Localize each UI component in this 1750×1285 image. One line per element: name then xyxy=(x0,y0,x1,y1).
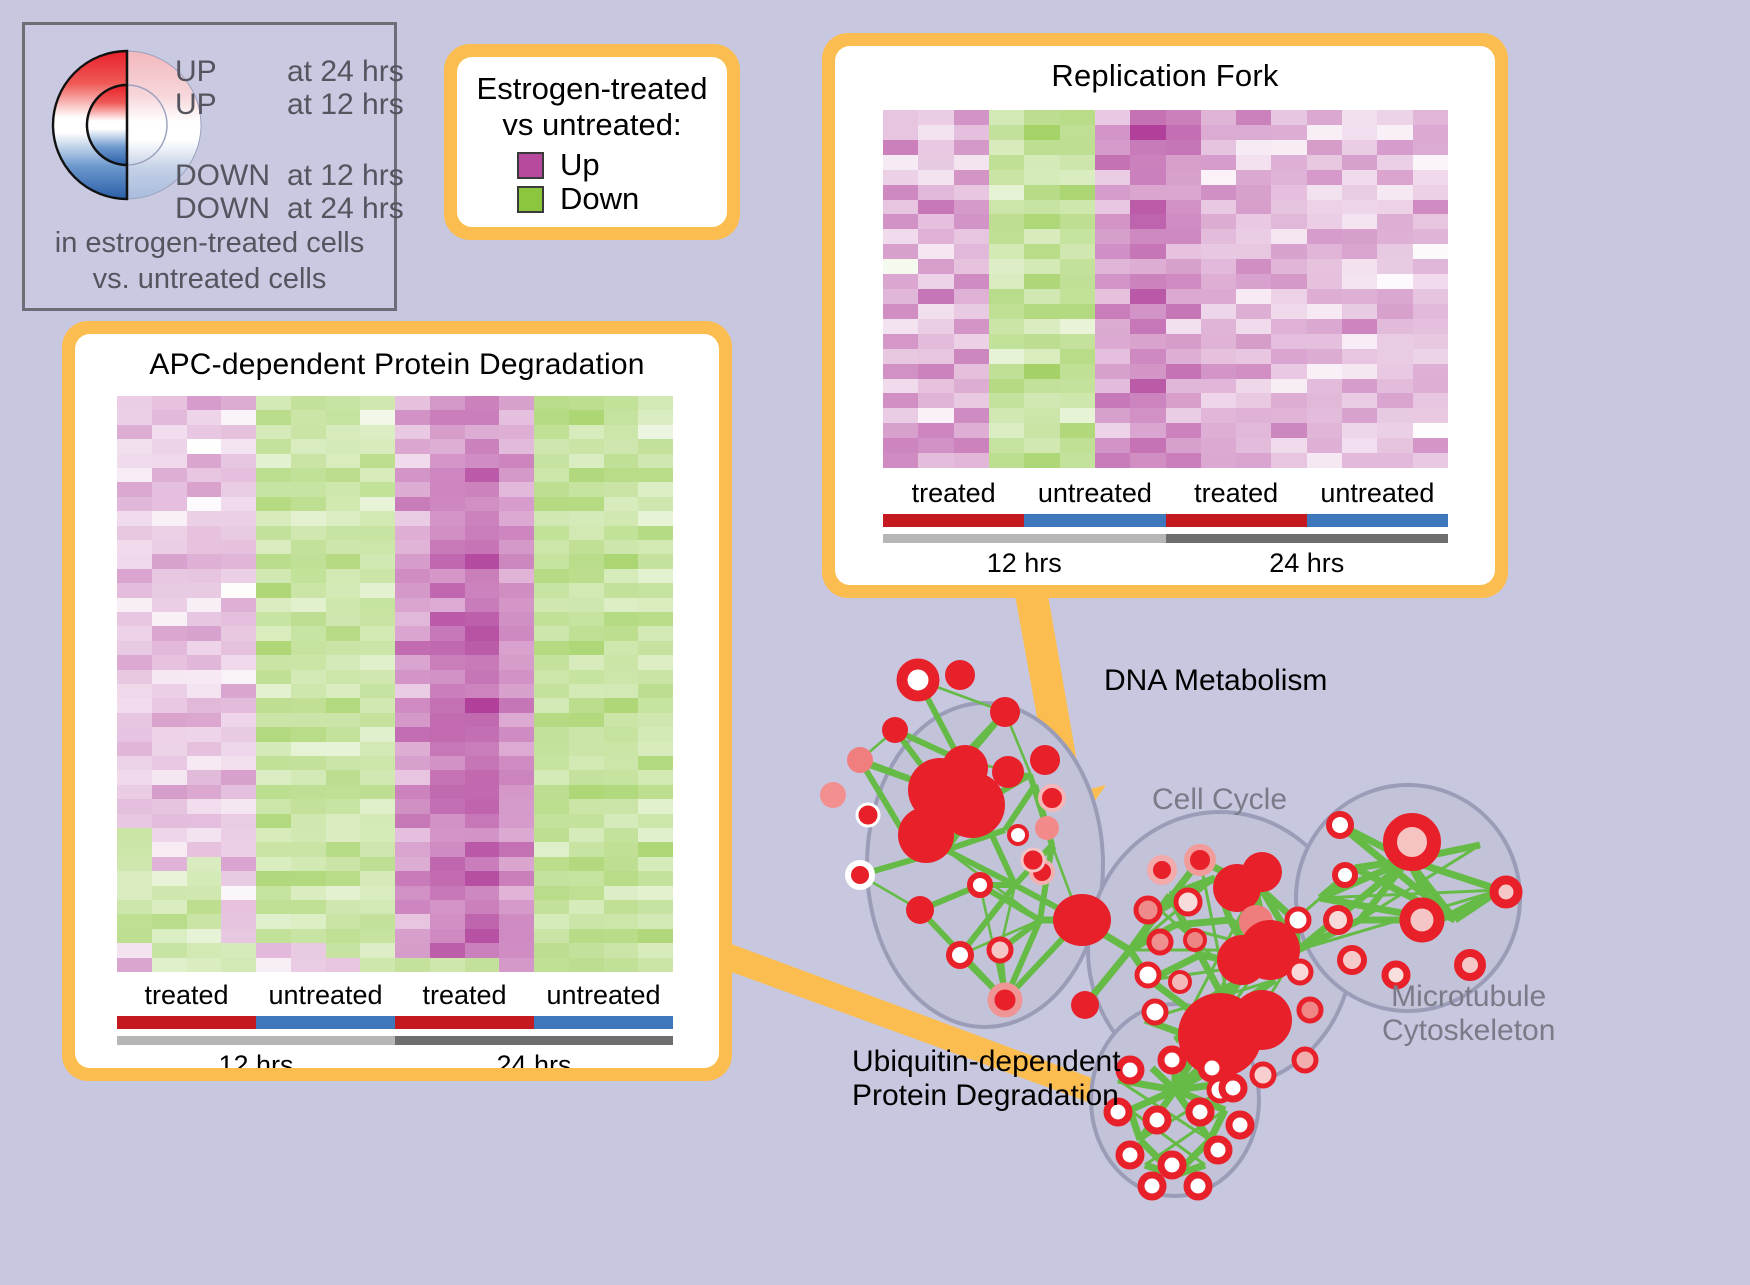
heatmap-cell xyxy=(430,670,465,684)
heatmap-cell xyxy=(1060,364,1095,379)
heatmap-cell xyxy=(430,612,465,626)
heatmap-cell xyxy=(1271,110,1306,125)
heatmap-cell xyxy=(638,727,673,741)
heatmap-cell xyxy=(465,598,500,612)
heatmap-cell xyxy=(1201,453,1236,468)
heatmap-cell xyxy=(883,304,918,319)
heatmap-cell xyxy=(152,511,187,525)
rf-bar-24hrs xyxy=(1166,534,1449,543)
heatmap-cell xyxy=(465,842,500,856)
heatmap-cell xyxy=(1024,229,1059,244)
heatmap-cell xyxy=(187,871,222,885)
heatmap-cell xyxy=(465,914,500,928)
heatmap-cell xyxy=(989,379,1024,394)
heatmap-cell xyxy=(1307,423,1342,438)
heatmap-cell xyxy=(221,497,256,511)
heatmap-cell xyxy=(989,155,1024,170)
heatmap-cell xyxy=(918,319,953,334)
heatmap-cell xyxy=(1413,379,1448,394)
heatmap-cell xyxy=(221,914,256,928)
heatmap-cell xyxy=(604,511,639,525)
heatmap-cell xyxy=(1024,170,1059,185)
heatmap-cell xyxy=(117,526,152,540)
heatmap-cell xyxy=(395,396,430,410)
heatmap-cell xyxy=(1201,110,1236,125)
heatmap-cell xyxy=(152,396,187,410)
heatmap-cell xyxy=(954,319,989,334)
heatmap-cell xyxy=(954,259,989,274)
heatmap-cell xyxy=(1166,379,1201,394)
heatmap-cell xyxy=(117,914,152,928)
heatmap-cell xyxy=(221,482,256,496)
heatmap-cell xyxy=(152,569,187,583)
heatmap-cell xyxy=(883,229,918,244)
rf-bar-12hrs xyxy=(883,534,1166,543)
heatmap-cell xyxy=(326,655,361,669)
heatmap-cell xyxy=(465,770,500,784)
heatmap-cell xyxy=(1413,274,1448,289)
heatmap-cell xyxy=(918,185,953,200)
heatmap-cell xyxy=(1024,140,1059,155)
heatmap-cell xyxy=(117,626,152,640)
heatmap-cell xyxy=(1271,379,1306,394)
heatmap-cell xyxy=(326,454,361,468)
heatmap-cell xyxy=(1342,274,1377,289)
heatmap-cell xyxy=(430,857,465,871)
heatmap-cell xyxy=(360,713,395,727)
heatmap-cell xyxy=(638,857,673,871)
heatmap-cell xyxy=(638,641,673,655)
ring-key: UP xyxy=(175,88,287,121)
heatmap-cell xyxy=(1413,110,1448,125)
heatmap-cell xyxy=(326,425,361,439)
heatmap-cell xyxy=(430,958,465,972)
heatmap-cell xyxy=(187,770,222,784)
heatmap-cell xyxy=(152,439,187,453)
heatmap-cell xyxy=(326,626,361,640)
heatmap-cell xyxy=(638,670,673,684)
heatmap-cell xyxy=(604,598,639,612)
heatmap-cell xyxy=(291,871,326,885)
heatmap-cell xyxy=(326,482,361,496)
heatmap-cell xyxy=(499,425,534,439)
heatmap-cell xyxy=(256,612,291,626)
heatmap-cell xyxy=(604,727,639,741)
heatmap-cell xyxy=(152,626,187,640)
heatmap-cell xyxy=(326,569,361,583)
heatmap-cell xyxy=(918,289,953,304)
heatmap-cell xyxy=(256,914,291,928)
heatmap-cell xyxy=(1060,334,1095,349)
heatmap-cell xyxy=(1236,379,1271,394)
heatmap-cell xyxy=(465,900,500,914)
heatmap-cell xyxy=(187,511,222,525)
heatmap-cell xyxy=(1201,304,1236,319)
apc-group-label: treated xyxy=(117,980,256,1011)
heatmap-cell xyxy=(465,799,500,813)
heatmap-cell xyxy=(604,468,639,482)
heatmap-cell xyxy=(187,583,222,597)
heatmap-cell xyxy=(989,125,1024,140)
heatmap-cell xyxy=(883,125,918,140)
heatmap-cell xyxy=(1236,393,1271,408)
heatmap-cell xyxy=(117,785,152,799)
heatmap-cell xyxy=(918,453,953,468)
heatmap-cell xyxy=(395,871,430,885)
heatmap-cell xyxy=(638,626,673,640)
heatmap-cell xyxy=(187,886,222,900)
heatmap-cell xyxy=(1236,319,1271,334)
heatmap-cell xyxy=(1060,200,1095,215)
heatmap-cell xyxy=(291,814,326,828)
heatmap-cell xyxy=(534,713,569,727)
heatmap-cell xyxy=(117,857,152,871)
heatmap-cell xyxy=(1342,334,1377,349)
replication-fork-title: Replication Fork xyxy=(835,58,1495,94)
heatmap-cell xyxy=(569,612,604,626)
heatmap-cell xyxy=(187,425,222,439)
heatmap-cell xyxy=(360,655,395,669)
heatmap-cell xyxy=(1130,393,1165,408)
heatmap-cell xyxy=(1342,289,1377,304)
heatmap-cell xyxy=(954,438,989,453)
heatmap-cell xyxy=(989,408,1024,423)
rf-treatment-bar xyxy=(883,514,1448,527)
heatmap-cell xyxy=(395,497,430,511)
heatmap-cell xyxy=(1060,423,1095,438)
heatmap-cell xyxy=(187,569,222,583)
heatmap-cell xyxy=(187,482,222,496)
heatmap-cell xyxy=(1377,408,1412,423)
heatmap-cell xyxy=(291,842,326,856)
heatmap-cell xyxy=(1024,393,1059,408)
heatmap-cell xyxy=(1307,140,1342,155)
heatmap-cell xyxy=(291,468,326,482)
up-color-swatch xyxy=(517,152,544,179)
heatmap-cell xyxy=(918,349,953,364)
heatmap-cell xyxy=(256,583,291,597)
heatmap-cell xyxy=(638,914,673,928)
heatmap-cell xyxy=(465,641,500,655)
heatmap-cell xyxy=(1342,423,1377,438)
heatmap-cell xyxy=(1024,438,1059,453)
heatmap-cell xyxy=(534,727,569,741)
heatmap-cell xyxy=(534,756,569,770)
heatmap-cell xyxy=(604,742,639,756)
heatmap-cell xyxy=(152,410,187,424)
heatmap-cell xyxy=(1130,140,1165,155)
heatmap-cell xyxy=(395,842,430,856)
heatmap-cell xyxy=(1377,438,1412,453)
heatmap-cell xyxy=(499,410,534,424)
heatmap-cell xyxy=(117,770,152,784)
heatmap-cell xyxy=(465,439,500,453)
heatmap-cell xyxy=(360,540,395,554)
heatmap-cell xyxy=(534,814,569,828)
heatmap-cell xyxy=(1413,214,1448,229)
heatmap-cell xyxy=(1024,110,1059,125)
heatmap-cell xyxy=(256,641,291,655)
heatmap-cell xyxy=(465,497,500,511)
heatmap-cell xyxy=(638,554,673,568)
heatmap-cell xyxy=(430,598,465,612)
heatmap-cell xyxy=(954,200,989,215)
heatmap-cell xyxy=(1236,259,1271,274)
heatmap-cell xyxy=(499,857,534,871)
heatmap-cell xyxy=(569,626,604,640)
heatmap-cell xyxy=(187,655,222,669)
heatmap-cell xyxy=(1166,200,1201,215)
heatmap-cell xyxy=(465,958,500,972)
ring-legend-labels: UP at 24 hrs UP at 12 hrs DOWN at 12 hrs… xyxy=(175,55,405,225)
heatmap-cell xyxy=(187,857,222,871)
heatmap-cell xyxy=(430,626,465,640)
heatmap-cell xyxy=(638,943,673,957)
heatmap-cell xyxy=(604,497,639,511)
apc-time-label-24: 24 hrs xyxy=(395,1050,673,1068)
heatmap-cell xyxy=(638,929,673,943)
heatmap-cell xyxy=(1236,289,1271,304)
heatmap-cell xyxy=(1413,423,1448,438)
heatmap-cell xyxy=(1060,349,1095,364)
heatmap-cell xyxy=(604,756,639,770)
heatmap-cell xyxy=(1024,259,1059,274)
heatmap-cell xyxy=(569,756,604,770)
heatmap-cell xyxy=(1201,214,1236,229)
heatmap-cell xyxy=(395,684,430,698)
heatmap-cell xyxy=(117,958,152,972)
heatmap-cell xyxy=(291,929,326,943)
heatmap-cell xyxy=(638,526,673,540)
heatmap-cell xyxy=(465,410,500,424)
apc-time-labels: 12 hrs 24 hrs xyxy=(117,1050,673,1068)
heatmap-cell xyxy=(1413,453,1448,468)
heatmap-cell xyxy=(221,929,256,943)
heatmap-cell xyxy=(1130,364,1165,379)
heatmap-cell xyxy=(1095,110,1130,125)
heatmap-cell xyxy=(1271,319,1306,334)
heatmap-cell xyxy=(1166,349,1201,364)
heatmap-cell xyxy=(499,756,534,770)
heatmap-cell xyxy=(187,828,222,842)
color-legend-panel: Estrogen-treated vs untreated: Up Down xyxy=(444,44,740,240)
heatmap-cell xyxy=(1307,334,1342,349)
heatmap-cell xyxy=(465,828,500,842)
heatmap-cell xyxy=(499,929,534,943)
heatmap-cell xyxy=(604,900,639,914)
heatmap-cell xyxy=(604,828,639,842)
heatmap-cell xyxy=(152,871,187,885)
heatmap-cell xyxy=(1024,185,1059,200)
heatmap-cell xyxy=(360,914,395,928)
heatmap-cell xyxy=(256,857,291,871)
heatmap-cell xyxy=(291,770,326,784)
heatmap-cell xyxy=(604,814,639,828)
heatmap-cell xyxy=(395,958,430,972)
heatmap-cell xyxy=(221,871,256,885)
heatmap-cell xyxy=(569,641,604,655)
heatmap-cell xyxy=(954,379,989,394)
heatmap-cell xyxy=(152,742,187,756)
heatmap-cell xyxy=(534,670,569,684)
heatmap-cell xyxy=(256,770,291,784)
heatmap-cell xyxy=(187,612,222,626)
heatmap-cell xyxy=(256,482,291,496)
heatmap-cell xyxy=(395,828,430,842)
heatmap-cell xyxy=(152,857,187,871)
heatmap-cell xyxy=(1236,229,1271,244)
heatmap-cell xyxy=(291,713,326,727)
heatmap-cell xyxy=(1130,453,1165,468)
heatmap-cell xyxy=(291,886,326,900)
legend-item-up: Up xyxy=(517,149,711,181)
heatmap-cell xyxy=(918,155,953,170)
heatmap-cell xyxy=(291,569,326,583)
heatmap-cell xyxy=(326,886,361,900)
heatmap-cell xyxy=(256,497,291,511)
heatmap-cell xyxy=(1166,155,1201,170)
heatmap-cell xyxy=(326,799,361,813)
heatmap-cell xyxy=(1166,438,1201,453)
heatmap-cell xyxy=(430,497,465,511)
heatmap-cell xyxy=(1201,423,1236,438)
heatmap-cell xyxy=(221,785,256,799)
heatmap-cell xyxy=(187,454,222,468)
heatmap-cell xyxy=(604,670,639,684)
heatmap-cell xyxy=(569,396,604,410)
heatmap-cell xyxy=(117,684,152,698)
heatmap-cell xyxy=(1342,214,1377,229)
heatmap-cell xyxy=(1413,140,1448,155)
heatmap-cell xyxy=(395,857,430,871)
heatmap-cell xyxy=(291,396,326,410)
heatmap-cell xyxy=(499,799,534,813)
heatmap-cell xyxy=(395,598,430,612)
heatmap-cell xyxy=(1413,289,1448,304)
heatmap-cell xyxy=(291,526,326,540)
heatmap-cell xyxy=(117,698,152,712)
heatmap-cell xyxy=(1024,379,1059,394)
heatmap-cell xyxy=(326,770,361,784)
heatmap-cell xyxy=(187,626,222,640)
heatmap-cell xyxy=(117,814,152,828)
heatmap-cell xyxy=(569,482,604,496)
heatmap-cell xyxy=(291,540,326,554)
heatmap-cell xyxy=(883,110,918,125)
heatmap-cell xyxy=(534,511,569,525)
heatmap-cell xyxy=(360,799,395,813)
heatmap-cell xyxy=(117,396,152,410)
heatmap-cell xyxy=(395,583,430,597)
heatmap-cell xyxy=(187,785,222,799)
heatmap-cell xyxy=(360,641,395,655)
heatmap-cell xyxy=(1095,140,1130,155)
heatmap-cell xyxy=(604,943,639,957)
heatmap-cell xyxy=(221,770,256,784)
heatmap-cell xyxy=(1130,319,1165,334)
heatmap-cell xyxy=(430,583,465,597)
heatmap-cell xyxy=(1342,155,1377,170)
heatmap-cell xyxy=(465,785,500,799)
heatmap-cell xyxy=(221,410,256,424)
heatmap-cell xyxy=(989,393,1024,408)
heatmap-cell xyxy=(604,785,639,799)
heatmap-cell xyxy=(1271,140,1306,155)
heatmap-cell xyxy=(360,828,395,842)
heatmap-cell xyxy=(187,468,222,482)
heatmap-cell xyxy=(1095,438,1130,453)
heatmap-cell xyxy=(1166,244,1201,259)
rf-group-label: untreated xyxy=(1307,478,1448,509)
heatmap-cell xyxy=(1095,259,1130,274)
heatmap-cell xyxy=(117,943,152,957)
heatmap-cell xyxy=(883,274,918,289)
heatmap-cell xyxy=(430,914,465,928)
heatmap-cell xyxy=(395,626,430,640)
heatmap-cell xyxy=(152,641,187,655)
heatmap-cell xyxy=(1130,379,1165,394)
heatmap-cell xyxy=(465,425,500,439)
heatmap-cell xyxy=(360,454,395,468)
heatmap-cell xyxy=(989,423,1024,438)
heatmap-cell xyxy=(499,454,534,468)
heatmap-cell xyxy=(360,526,395,540)
apc-time-label-12: 12 hrs xyxy=(117,1050,395,1068)
heatmap-cell xyxy=(465,526,500,540)
heatmap-cell xyxy=(221,554,256,568)
heatmap-cell xyxy=(152,655,187,669)
heatmap-cell xyxy=(152,900,187,914)
heatmap-cell xyxy=(221,655,256,669)
heatmap-cell xyxy=(1166,259,1201,274)
heatmap-cell xyxy=(638,756,673,770)
heatmap-cell xyxy=(326,612,361,626)
heatmap-cell xyxy=(1060,408,1095,423)
heatmap-cell xyxy=(1024,244,1059,259)
heatmap-cell xyxy=(1342,170,1377,185)
heatmap-cell xyxy=(395,468,430,482)
heatmap-cell xyxy=(221,454,256,468)
heatmap-cell xyxy=(1130,259,1165,274)
heatmap-cell xyxy=(221,713,256,727)
heatmap-cell xyxy=(291,598,326,612)
heatmap-cell xyxy=(1201,185,1236,200)
heatmap-cell xyxy=(1307,170,1342,185)
heatmap-cell xyxy=(883,349,918,364)
heatmap-cell xyxy=(918,125,953,140)
heatmap-cell xyxy=(1060,453,1095,468)
heatmap-cell xyxy=(1201,319,1236,334)
heatmap-cell xyxy=(152,468,187,482)
heatmap-cell xyxy=(499,871,534,885)
heatmap-cell xyxy=(187,914,222,928)
heatmap-cell xyxy=(291,454,326,468)
heatmap-cell xyxy=(534,871,569,885)
heatmap-cell xyxy=(954,453,989,468)
heatmap-cell xyxy=(569,454,604,468)
heatmap-cell xyxy=(326,497,361,511)
heatmap-cell xyxy=(883,364,918,379)
heatmap-cell xyxy=(534,482,569,496)
heatmap-cell xyxy=(395,655,430,669)
heatmap-cell xyxy=(604,439,639,453)
heatmap-cell xyxy=(1201,438,1236,453)
heatmap-cell xyxy=(569,871,604,885)
heatmap-cell xyxy=(256,439,291,453)
heatmap-cell xyxy=(117,425,152,439)
heatmap-cell xyxy=(1201,200,1236,215)
heatmap-cell xyxy=(326,842,361,856)
